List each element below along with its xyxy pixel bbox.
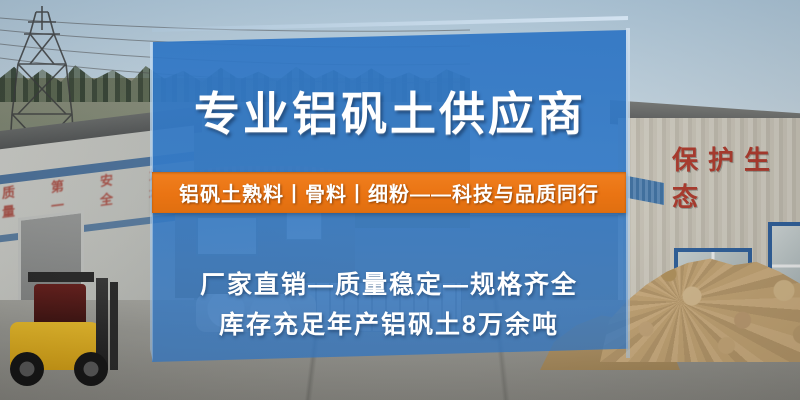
- wall-slogan-part-1: 质量: [2, 180, 25, 221]
- wall-slogan-part-2: 第一: [51, 174, 74, 215]
- subline-1: 厂家直销—质量稳定—规格齐全: [152, 265, 626, 301]
- headline: 专业铝矾土供应商: [152, 78, 628, 144]
- forklift-overhead-guard: [28, 272, 94, 282]
- forklift-cab: [34, 284, 86, 326]
- right-building-wall-text: 保护生态: [672, 140, 800, 214]
- forklift-wheel-front: [74, 352, 108, 386]
- subline-2: 库存充足年产铝矾土8万余吨: [152, 305, 626, 341]
- wall-slogan-part-3: 安全: [100, 168, 123, 209]
- forklift-wheel-rear: [10, 352, 44, 386]
- forklift-mast-inner: [110, 282, 118, 370]
- orange-ribbon: 铝矾土熟料丨骨料丨细粉——科技与品质同行: [152, 172, 626, 213]
- ribbon-text: 铝矾土熟料丨骨料丨细粉——科技与品质同行: [179, 178, 599, 207]
- banner-image: 质量 第一 安全 为本 保护生态 专业铝矾土供应商: [0, 0, 800, 400]
